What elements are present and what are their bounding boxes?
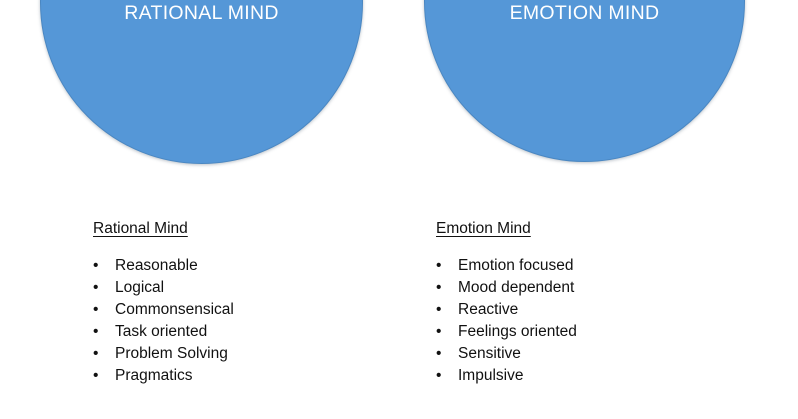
bullet-icon: • [93,255,107,277]
bullet-icon: • [436,321,450,343]
list-item: • Task oriented [93,321,393,343]
emotion-mind-heading: Emotion Mind [436,219,736,239]
list-item-label: Emotion focused [458,257,573,274]
list-item: • Pragmatics [93,365,393,387]
list-item: • Impulsive [436,365,736,387]
list-item-label: Mood dependent [458,279,574,296]
list-item-label: Commonsensical [115,301,234,318]
list-item-label: Reactive [458,301,518,318]
list-item: • Commonsensical [93,299,393,321]
list-item: • Reactive [436,299,736,321]
list-item-label: Feelings oriented [458,323,577,340]
rational-mind-list: • Reasonable • Logical • Commonsensical … [93,255,393,387]
bullet-icon: • [436,343,450,365]
bullet-icon: • [93,343,107,365]
bullet-icon: • [436,277,450,299]
list-item: • Reasonable [93,255,393,277]
slide-canvas: RATIONAL MIND EMOTION MIND Rational Mind… [0,0,798,419]
list-item-label: Reasonable [115,257,198,274]
bullet-icon: • [93,365,107,387]
rational-mind-column: Rational Mind • Reasonable • Logical • C… [93,219,393,387]
rational-mind-circle-label: RATIONAL MIND [40,4,363,24]
bullet-icon: • [436,255,450,277]
list-item-label: Sensitive [458,345,521,362]
list-item: • Logical [93,277,393,299]
emotion-mind-circle [424,0,745,162]
list-item: • Mood dependent [436,277,736,299]
bullet-icon: • [436,365,450,387]
emotion-mind-circle-label: EMOTION MIND [424,4,745,24]
list-item-label: Logical [115,279,164,296]
bullet-icon: • [93,321,107,343]
list-item-label: Impulsive [458,367,523,384]
list-item-label: Task oriented [115,323,207,340]
bullet-icon: • [436,299,450,321]
list-item-label: Problem Solving [115,345,228,362]
emotion-mind-list: • Emotion focused • Mood dependent • Rea… [436,255,736,387]
rational-mind-heading: Rational Mind [93,219,393,239]
list-item-label: Pragmatics [115,367,193,384]
rational-mind-circle [40,0,363,164]
list-item: • Feelings oriented [436,321,736,343]
emotion-mind-column: Emotion Mind • Emotion focused • Mood de… [436,219,736,387]
list-item: • Sensitive [436,343,736,365]
bullet-icon: • [93,277,107,299]
list-item: • Emotion focused [436,255,736,277]
list-item: • Problem Solving [93,343,393,365]
bullet-icon: • [93,299,107,321]
